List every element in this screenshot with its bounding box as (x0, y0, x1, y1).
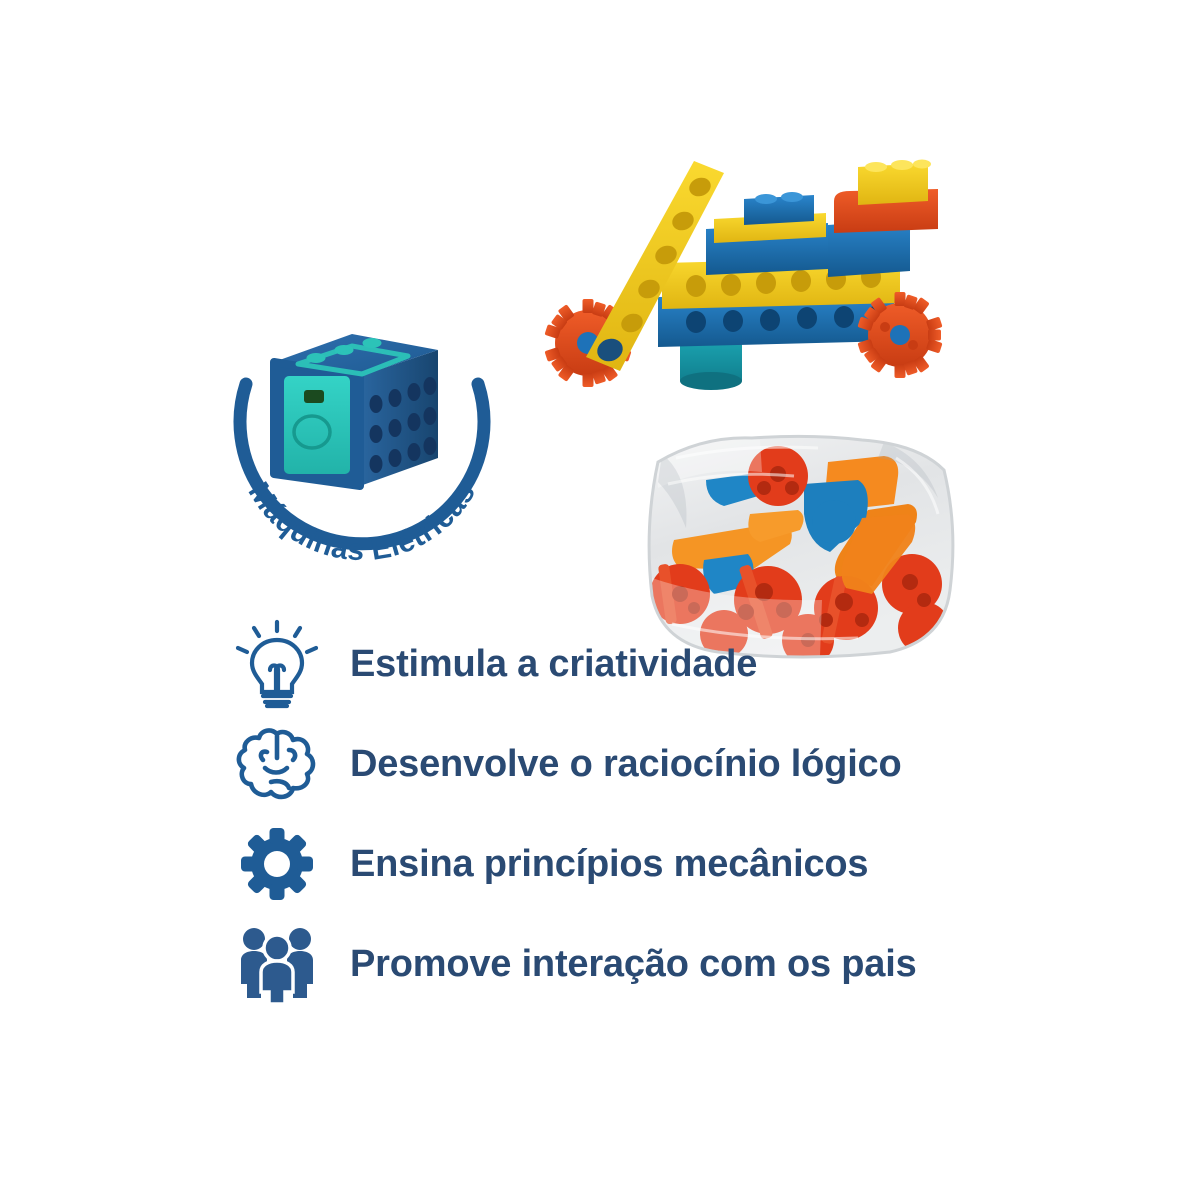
gear-icon (222, 818, 332, 910)
people-group-icon (222, 918, 332, 1010)
blue-stud-brick (744, 192, 814, 225)
feature-item-interacao: Promove interação com os pais (222, 918, 1052, 1010)
toy-model-photo (528, 145, 968, 410)
feature-item-mecanicos: Ensina princípios mecânicos (222, 818, 1052, 910)
brain-icon (222, 718, 332, 810)
maquinas-eletricas-badge: Máquinas Elétricas (212, 282, 512, 572)
feature-item-raciocinio: Desenvolve o raciocínio lógico (222, 718, 1052, 810)
product-feature-infographic: Máquinas Elétricas (0, 0, 1200, 1200)
yellow-stud-block-top (858, 160, 931, 206)
feature-item-criatividade: Estimula a criatividade (222, 618, 1052, 710)
feature-list: Estimula a criatividade Desenvolve o rac… (222, 618, 1052, 1018)
smart-brick-module-icon (274, 334, 438, 486)
feature-label: Desenvolve o raciocínio lógico (332, 743, 902, 786)
feature-label: Ensina princípios mecânicos (332, 843, 868, 886)
badge-arc-text: Máquinas Elétricas (242, 477, 483, 568)
feature-label: Estimula a criatividade (332, 643, 757, 686)
feature-label: Promove interação com os pais (332, 943, 917, 986)
led-indicator (304, 390, 324, 403)
lightbulb-icon (222, 618, 332, 710)
